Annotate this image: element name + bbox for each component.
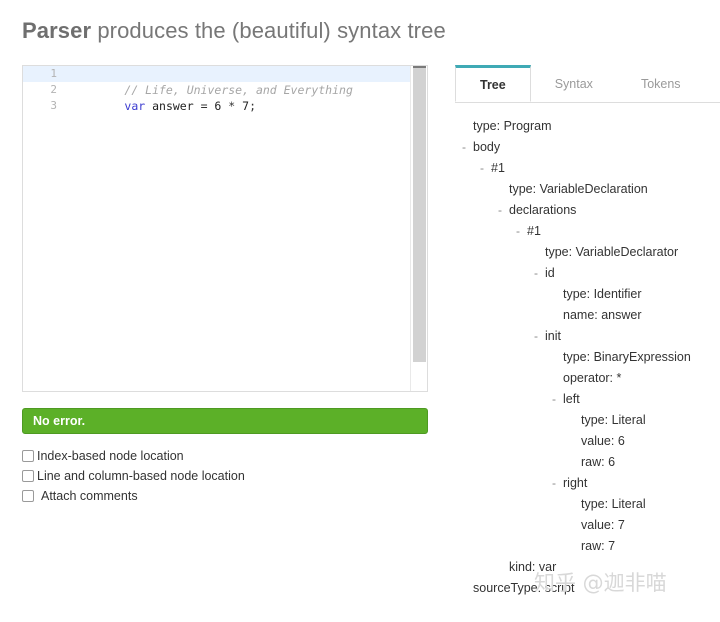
tree-node-label: kind: var (509, 557, 556, 578)
tree-node-label: value: 7 (581, 515, 625, 536)
tree-node[interactable]: sourceType: script (455, 578, 720, 599)
tree-collapse-icon[interactable]: - (477, 158, 487, 179)
checkbox-icon[interactable] (22, 490, 34, 502)
tree-node-label: type: BinaryExpression (563, 347, 691, 368)
tree-node-label: #1 (491, 158, 505, 179)
tree-collapse-icon[interactable]: - (549, 473, 559, 494)
tree-node-label: type: VariableDeclarator (545, 242, 678, 263)
tree-node[interactable]: value: 7 (455, 515, 720, 536)
tree-node[interactable]: -init (455, 326, 720, 347)
line-number: 2 (23, 82, 57, 98)
tree-node-label: id (545, 263, 555, 284)
tree-collapse-icon[interactable]: - (531, 326, 541, 347)
tab-tokens[interactable]: Tokens (617, 65, 705, 102)
tree-node[interactable]: type: VariableDeclaration (455, 179, 720, 200)
option-line-and-column-based-node-location[interactable]: Line and column-based node location (22, 466, 428, 486)
editor-scrollbar-thumb[interactable] (413, 66, 426, 362)
tree-node[interactable]: -#1 (455, 158, 720, 179)
tree-node[interactable]: type: Identifier (455, 284, 720, 305)
option-label: Line and column-based node location (37, 469, 245, 483)
checkbox-icon[interactable] (22, 450, 34, 462)
tree-node-label: type: Literal (581, 410, 646, 431)
tree-node[interactable]: operator: * (455, 368, 720, 389)
syntax-tree: type: Program-body-#1type: VariableDecla… (455, 116, 720, 599)
tree-node-label: operator: * (563, 368, 621, 389)
option-attach-comments[interactable]: Attach comments (22, 486, 428, 506)
options-list: Index-based node location Line and colum… (22, 446, 428, 506)
tree-node-label: type: VariableDeclaration (509, 179, 648, 200)
page-title: Parser produces the (beautiful) syntax t… (22, 18, 446, 44)
option-label: Index-based node location (37, 449, 184, 463)
tree-node[interactable]: name: answer (455, 305, 720, 326)
tree-collapse-icon[interactable]: - (459, 137, 469, 158)
line-number: 1 (23, 66, 57, 82)
code-editor-lines[interactable]: 1// Life, Universe, and Everything 2var … (23, 66, 427, 114)
code-line[interactable]: 1// Life, Universe, and Everything (23, 66, 427, 82)
tree-node[interactable]: raw: 6 (455, 452, 720, 473)
tree-node[interactable]: type: BinaryExpression (455, 347, 720, 368)
tree-node[interactable]: -#1 (455, 221, 720, 242)
tree-node[interactable]: -left (455, 389, 720, 410)
tree-node-label: raw: 6 (581, 452, 615, 473)
tree-collapse-icon[interactable]: - (513, 221, 523, 242)
tab-tree[interactable]: Tree (455, 65, 531, 102)
tab-syntax[interactable]: Syntax (531, 65, 617, 102)
option-label: Attach comments (41, 489, 138, 503)
code-line[interactable]: 3 (23, 98, 427, 114)
tree-node[interactable]: type: Program (455, 116, 720, 137)
tree-node[interactable]: value: 6 (455, 431, 720, 452)
page-title-strong: Parser (22, 18, 91, 43)
tree-node-label: #1 (527, 221, 541, 242)
line-number: 3 (23, 98, 57, 114)
tree-node[interactable]: -id (455, 263, 720, 284)
tree-node-label: right (563, 473, 587, 494)
tree-node-label: type: Program (473, 116, 552, 137)
tree-node[interactable]: -declarations (455, 200, 720, 221)
tree-node-label: sourceType: script (473, 578, 574, 599)
tree-node-label: value: 6 (581, 431, 625, 452)
tree-node-label: type: Literal (581, 494, 646, 515)
right-panel: Tree Syntax Tokens type: Program-body-#1… (455, 65, 720, 599)
tree-node[interactable]: -body (455, 137, 720, 158)
tree-node-label: type: Identifier (563, 284, 642, 305)
tree-collapse-icon[interactable]: - (549, 389, 559, 410)
tree-node[interactable]: raw: 7 (455, 536, 720, 557)
editor-scrollbar[interactable] (410, 66, 427, 391)
tree-node-label: declarations (509, 200, 576, 221)
tree-node[interactable]: -right (455, 473, 720, 494)
tree-node-label: init (545, 326, 561, 347)
code-line[interactable]: 2var answer = 6 * 7; (23, 82, 427, 98)
checkbox-icon[interactable] (22, 470, 34, 482)
tree-node-label: raw: 7 (581, 536, 615, 557)
page-title-rest: produces the (beautiful) syntax tree (91, 18, 446, 43)
tree-node[interactable]: type: Literal (455, 494, 720, 515)
tree-collapse-icon[interactable]: - (495, 200, 505, 221)
status-badge: No error. (22, 408, 428, 434)
option-index-based-node-location[interactable]: Index-based node location (22, 446, 428, 466)
tree-collapse-icon[interactable]: - (531, 263, 541, 284)
tab-bar: Tree Syntax Tokens (455, 65, 720, 103)
tree-node[interactable]: type: VariableDeclarator (455, 242, 720, 263)
tree-node[interactable]: type: Literal (455, 410, 720, 431)
tree-node[interactable]: kind: var (455, 557, 720, 578)
tree-node-label: body (473, 137, 500, 158)
code-editor[interactable]: 1// Life, Universe, and Everything 2var … (22, 65, 428, 392)
tree-node-label: left (563, 389, 580, 410)
left-panel: 1// Life, Universe, and Everything 2var … (22, 65, 428, 506)
tree-node-label: name: answer (563, 305, 642, 326)
